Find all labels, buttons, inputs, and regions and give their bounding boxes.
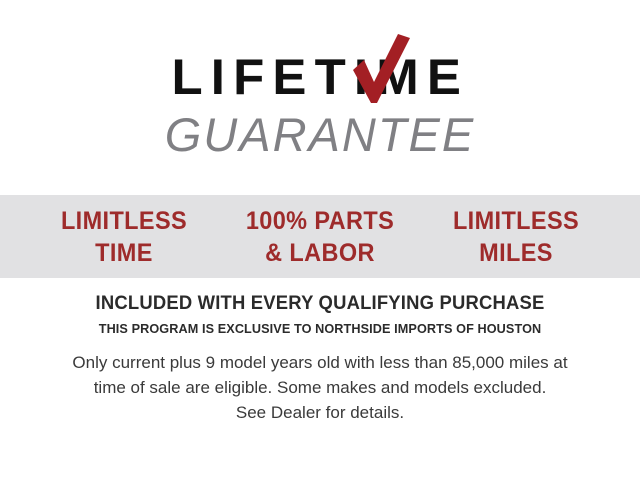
- feature-line-1: 100% PARTS: [246, 207, 394, 235]
- fineprint-line: Only current plus 9 model years old with…: [26, 351, 614, 376]
- fineprint-line: time of sale are eligible. Some makes an…: [26, 376, 614, 401]
- fineprint-line: See Dealer for details.: [26, 401, 614, 426]
- feature-line-2: MILES: [424, 237, 608, 269]
- headline-included-with-purchase: INCLUDED WITH EVERY QUALIFYING PURCHASE: [10, 294, 631, 315]
- logo-lockup: LIFETIME GUARANTEE: [165, 52, 476, 158]
- feature-column-limitless-miles: LIMITLESS MILES: [424, 205, 608, 269]
- logo-lifetime-text: LIFETIME: [162, 52, 479, 102]
- lifetime-guarantee-ad: LIFETIME GUARANTEE LIMITLESS TIME 100% P…: [0, 0, 640, 480]
- feature-line-2: TIME: [32, 237, 216, 269]
- feature-column-limitless-time: LIMITLESS TIME: [32, 205, 216, 269]
- logo-guarantee-text: GUARANTEE: [165, 111, 476, 158]
- feature-line-1: LIMITLESS: [453, 207, 579, 235]
- lower-copy-block: INCLUDED WITH EVERY QUALIFYING PURCHASE …: [0, 294, 640, 425]
- subline-exclusive-dealer: THIS PROGRAM IS EXCLUSIVE TO NORTHSIDE I…: [13, 322, 627, 337]
- feature-line-1: LIMITLESS: [61, 207, 187, 235]
- logo-block: LIFETIME GUARANTEE: [0, 52, 640, 158]
- feature-column-parts-labor: 100% PARTS & LABOR: [228, 205, 412, 269]
- fineprint-block: Only current plus 9 model years old with…: [0, 351, 640, 425]
- feature-band: LIMITLESS TIME 100% PARTS & LABOR LIMITL…: [0, 195, 640, 278]
- feature-line-2: & LABOR: [228, 237, 412, 269]
